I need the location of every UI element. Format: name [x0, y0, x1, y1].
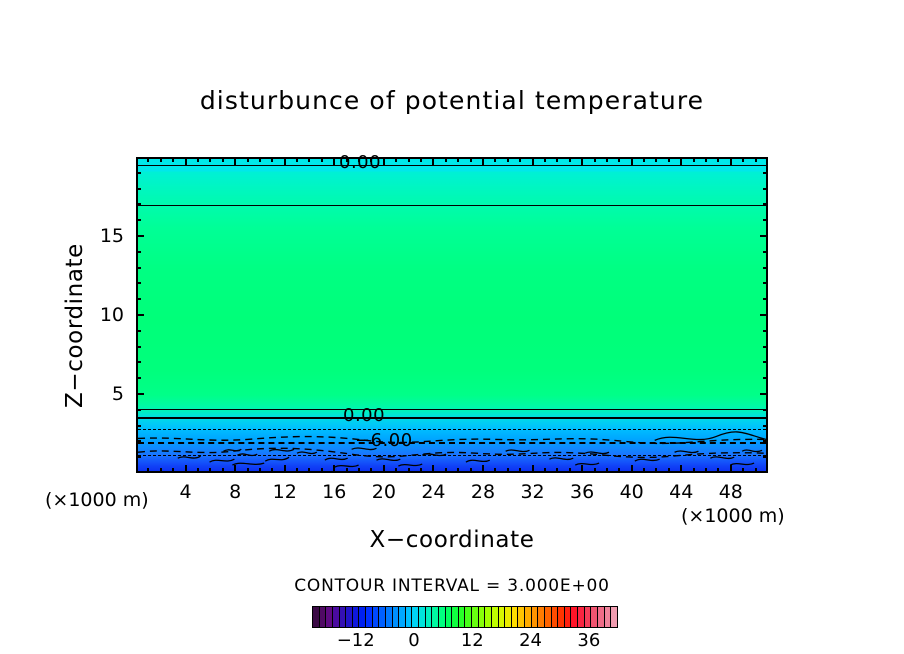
x-tick-bottom-16: [333, 465, 335, 473]
y-tick-right-18: [763, 188, 768, 190]
colorbar-swatch-45: [611, 607, 617, 627]
x-tick-bottom-7: [222, 468, 224, 473]
x-tick-bottom-17: [346, 468, 348, 473]
x-tick-top-39: [618, 157, 620, 162]
colorbar-swatch-42: [591, 607, 598, 627]
x-tick-top-30: [507, 157, 509, 162]
y-tick-right-9: [763, 330, 768, 332]
x-tick-top-4: [185, 157, 187, 165]
y-tick-label-5: 5: [90, 383, 124, 405]
colorbar-swatch-16: [419, 607, 426, 627]
x-tick-top-23: [420, 157, 422, 162]
contour-line-dash-b: [138, 455, 766, 456]
x-tick-bottom-18: [358, 468, 360, 473]
x-tick-label-4: 4: [180, 481, 192, 503]
y-tick-right-13: [763, 267, 768, 269]
x-tick-bottom-13: [296, 468, 298, 473]
x-tick-bottom-38: [606, 468, 608, 473]
y-tick-right-14: [763, 251, 768, 253]
contour-label-top-text: 0.00: [336, 152, 384, 173]
colorbar-swatch-14: [406, 607, 413, 627]
contour-line-lower-a: [138, 409, 766, 410]
x-tick-top-40: [631, 157, 633, 165]
x-tick-bottom-37: [594, 468, 596, 473]
x-tick-top-22: [408, 157, 410, 162]
x-tick-label-36: 36: [570, 481, 594, 503]
y-tick-left-12: [136, 282, 141, 284]
colorbar-swatch-26: [485, 607, 492, 627]
colorbar-swatch-37: [558, 607, 565, 627]
contour-interval-caption: CONTOUR INTERVAL = 3.000E+00: [0, 576, 904, 596]
y-tick-right-10: [760, 314, 768, 316]
x-tick-bottom-50: [755, 468, 757, 473]
x-tick-top-8: [234, 157, 236, 165]
x-tick-top-43: [668, 157, 670, 162]
y-tick-right-1: [763, 456, 768, 458]
colorbar-swatch-1: [320, 607, 327, 627]
x-tick-bottom-48: [730, 465, 732, 473]
colorbar-swatch-38: [565, 607, 572, 627]
colorbar-swatch-15: [412, 607, 419, 627]
x-tick-top-5: [197, 157, 199, 162]
x-tick-top-38: [606, 157, 608, 162]
y-tick-right-11: [763, 298, 768, 300]
x-tick-bottom-32: [532, 465, 534, 473]
x-tick-bottom-41: [643, 468, 645, 473]
contour-line-dash-a: [138, 429, 766, 430]
x-tick-bottom-47: [717, 468, 719, 473]
colorbar-swatch-30: [512, 607, 519, 627]
x-tick-top-48: [730, 157, 732, 165]
y-tick-left-13: [136, 267, 141, 269]
x-tick-label-16: 16: [322, 481, 346, 503]
colorbar-swatch-25: [479, 607, 486, 627]
colorbar-swatch-34: [538, 607, 545, 627]
x-tick-top-18: [358, 157, 360, 162]
colorbar-swatch-24: [472, 607, 479, 627]
x-tick-bottom-39: [618, 468, 620, 473]
x-tick-bottom-6: [209, 468, 211, 473]
colorbar-swatch-33: [532, 607, 539, 627]
x-tick-bottom-35: [569, 468, 571, 473]
x-tick-bottom-20: [383, 465, 385, 473]
x-tick-top-7: [222, 157, 224, 162]
y-tick-right-19: [763, 172, 768, 174]
x-axis-unit-left: (×1000 m): [45, 489, 149, 511]
colorbar-swatch-11: [386, 607, 393, 627]
colorbar-swatch-40: [578, 607, 585, 627]
colorbar-swatch-36: [552, 607, 559, 627]
x-tick-top-25: [445, 157, 447, 162]
colorbar-swatch-44: [605, 607, 612, 627]
x-tick-top-46: [705, 157, 707, 162]
contour-label-minus6: −6.00: [352, 430, 416, 451]
x-tick-top-17: [346, 157, 348, 162]
x-tick-top-31: [519, 157, 521, 162]
x-tick-top-20: [383, 157, 385, 165]
x-tick-top-44: [680, 157, 682, 165]
x-tick-bottom-42: [655, 468, 657, 473]
colorbar-swatch-6: [353, 607, 360, 627]
x-tick-bottom-3: [172, 468, 174, 473]
colorbar-swatch-43: [598, 607, 605, 627]
x-tick-bottom-22: [408, 468, 410, 473]
colorbar-swatch-20: [446, 607, 453, 627]
colorbar-swatch-17: [426, 607, 433, 627]
x-tick-bottom-26: [457, 468, 459, 473]
y-tick-label-10: 10: [90, 304, 124, 326]
contour-plot-area: [136, 157, 768, 473]
x-tick-top-33: [544, 157, 546, 162]
colorbar-swatch-8: [366, 607, 373, 627]
x-tick-bottom-31: [519, 468, 521, 473]
colorbar-swatch-35: [545, 607, 552, 627]
x-axis-unit-right: (×1000 m): [681, 505, 785, 527]
x-tick-top-37: [594, 157, 596, 162]
y-tick-label-15: 15: [90, 225, 124, 247]
y-tick-right-3: [763, 425, 768, 427]
x-tick-label-20: 20: [372, 481, 396, 503]
x-tick-bottom-11: [271, 468, 273, 473]
contour-label-zero-lower: 0.00: [340, 405, 388, 426]
x-tick-bottom-44: [680, 465, 682, 473]
colorbar-swatch-28: [499, 607, 506, 627]
x-tick-top-19: [370, 157, 372, 162]
y-tick-left-17: [136, 203, 141, 205]
x-tick-bottom-33: [544, 468, 546, 473]
colorbar: [312, 606, 618, 628]
x-tick-top-2: [160, 157, 162, 162]
x-tick-bottom-2: [160, 468, 162, 473]
colorbar-swatch-3: [333, 607, 340, 627]
x-tick-top-29: [494, 157, 496, 162]
x-tick-top-36: [581, 157, 583, 165]
x-tick-top-13: [296, 157, 298, 162]
x-tick-bottom-49: [742, 468, 744, 473]
x-tick-top-50: [755, 157, 757, 162]
colorbar-swatch-27: [492, 607, 499, 627]
colorbar-tick-label-1: 0: [408, 630, 419, 651]
x-tick-bottom-36: [581, 465, 583, 473]
colorbar-tick-label-4: 36: [577, 630, 600, 651]
y-tick-left-14: [136, 251, 141, 253]
y-tick-left-4: [136, 409, 141, 411]
x-tick-top-16: [333, 157, 335, 165]
y-tick-right-17: [763, 203, 768, 205]
x-tick-top-14: [308, 157, 310, 162]
x-tick-bottom-23: [420, 468, 422, 473]
x-tick-top-47: [717, 157, 719, 162]
y-tick-left-11: [136, 298, 141, 300]
y-tick-right-8: [763, 346, 768, 348]
colorbar-swatch-39: [571, 607, 578, 627]
x-tick-bottom-28: [482, 465, 484, 473]
page-title: disturbunce of potential temperature: [0, 86, 904, 115]
x-tick-top-11: [271, 157, 273, 162]
x-tick-bottom-19: [370, 468, 372, 473]
x-tick-top-26: [457, 157, 459, 162]
x-tick-label-40: 40: [620, 481, 644, 503]
y-tick-left-5: [136, 393, 144, 395]
x-tick-top-3: [172, 157, 174, 162]
x-tick-label-12: 12: [273, 481, 297, 503]
x-tick-top-1: [147, 157, 149, 162]
y-tick-left-1: [136, 456, 141, 458]
x-tick-bottom-10: [259, 468, 261, 473]
y-tick-left-2: [136, 440, 141, 442]
y-tick-right-7: [763, 361, 768, 363]
x-tick-bottom-9: [247, 468, 249, 473]
y-tick-left-7: [136, 361, 141, 363]
x-tick-top-27: [470, 157, 472, 162]
colorbar-swatch-21: [452, 607, 459, 627]
y-tick-left-15: [136, 235, 144, 237]
x-tick-top-9: [247, 157, 249, 162]
x-tick-bottom-12: [284, 465, 286, 473]
x-tick-label-32: 32: [520, 481, 544, 503]
x-tick-label-44: 44: [669, 481, 693, 503]
x-tick-label-24: 24: [421, 481, 445, 503]
colorbar-swatch-2: [326, 607, 333, 627]
x-tick-bottom-46: [705, 468, 707, 473]
colorbar-swatch-29: [505, 607, 512, 627]
y-tick-left-16: [136, 219, 141, 221]
x-tick-label-8: 8: [229, 481, 241, 503]
x-tick-top-32: [532, 157, 534, 165]
x-tick-top-10: [259, 157, 261, 162]
y-tick-right-16: [763, 219, 768, 221]
contour-line-upper: [138, 165, 766, 166]
x-tick-bottom-1: [147, 468, 149, 473]
x-tick-bottom-27: [470, 468, 472, 473]
x-tick-top-49: [742, 157, 744, 162]
x-tick-bottom-43: [668, 468, 670, 473]
y-axis-title: Z−coordinate: [62, 226, 90, 426]
x-tick-top-45: [693, 157, 695, 162]
colorbar-swatch-23: [465, 607, 472, 627]
x-tick-bottom-14: [308, 468, 310, 473]
colorbar-swatch-31: [518, 607, 525, 627]
x-tick-top-34: [556, 157, 558, 162]
contour-label-top: 0.00: [336, 152, 384, 173]
contour-line-minus6: [138, 442, 766, 444]
colorbar-swatch-18: [432, 607, 439, 627]
contour-label-zero-lower-text: 0.00: [340, 405, 388, 426]
x-tick-bottom-8: [234, 465, 236, 473]
x-tick-bottom-30: [507, 468, 509, 473]
colorbar-tick-label-0: −12: [337, 630, 375, 651]
x-tick-top-15: [321, 157, 323, 162]
y-tick-left-10: [136, 314, 144, 316]
x-axis-title: X−coordinate: [0, 527, 904, 553]
x-tick-top-24: [432, 157, 434, 165]
x-tick-bottom-4: [185, 465, 187, 473]
colorbar-swatch-0: [313, 607, 320, 627]
x-tick-bottom-15: [321, 468, 323, 473]
colorbar-swatch-4: [340, 607, 347, 627]
x-tick-bottom-21: [395, 468, 397, 473]
x-tick-top-28: [482, 157, 484, 165]
x-tick-top-6: [209, 157, 211, 162]
y-tick-right-12: [763, 282, 768, 284]
y-tick-right-2: [763, 440, 768, 442]
y-tick-left-9: [136, 330, 141, 332]
x-tick-bottom-24: [432, 465, 434, 473]
colorbar-swatch-41: [585, 607, 592, 627]
contour-line-zero-lower: [138, 417, 766, 419]
x-tick-bottom-29: [494, 468, 496, 473]
y-tick-left-8: [136, 346, 141, 348]
x-tick-label-48: 48: [719, 481, 743, 503]
x-tick-top-42: [655, 157, 657, 162]
y-tick-right-5: [760, 393, 768, 395]
x-tick-bottom-34: [556, 468, 558, 473]
x-tick-top-12: [284, 157, 286, 165]
colorbar-swatch-22: [459, 607, 466, 627]
colorbar-swatch-5: [346, 607, 353, 627]
y-tick-left-3: [136, 425, 141, 427]
colorbar-swatch-10: [379, 607, 386, 627]
x-tick-bottom-25: [445, 468, 447, 473]
contour-line-top-0: [138, 205, 766, 206]
colorbar-swatch-19: [439, 607, 446, 627]
y-tick-right-4: [763, 409, 768, 411]
y-tick-left-19: [136, 172, 141, 174]
x-tick-top-21: [395, 157, 397, 162]
colorbar-swatch-13: [399, 607, 406, 627]
x-tick-top-41: [643, 157, 645, 162]
y-tick-right-6: [763, 377, 768, 379]
y-tick-left-6: [136, 377, 141, 379]
contour-label-minus6-text: −6.00: [352, 430, 416, 451]
colorbar-swatch-7: [359, 607, 366, 627]
x-tick-bottom-45: [693, 468, 695, 473]
colorbar-tick-label-2: 12: [461, 630, 484, 651]
x-tick-bottom-5: [197, 468, 199, 473]
y-tick-left-18: [136, 188, 141, 190]
colorbar-swatch-9: [373, 607, 380, 627]
y-tick-right-15: [760, 235, 768, 237]
x-tick-bottom-40: [631, 465, 633, 473]
x-tick-top-35: [569, 157, 571, 162]
colorbar-swatch-32: [525, 607, 532, 627]
x-tick-label-28: 28: [471, 481, 495, 503]
colorbar-swatch-12: [393, 607, 400, 627]
colorbar-tick-label-3: 24: [519, 630, 542, 651]
